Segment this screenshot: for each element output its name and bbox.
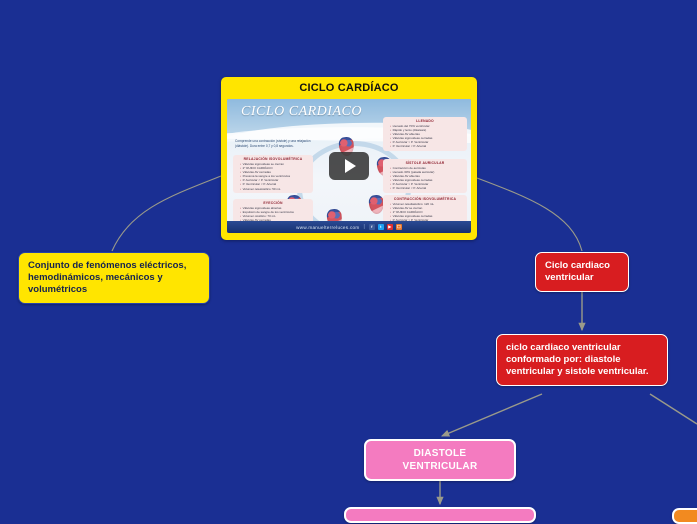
play-icon[interactable]: [329, 152, 369, 180]
node-definition[interactable]: Conjunto de fenómenos eléctricos, hemodi…: [18, 252, 210, 304]
poster-heading: CICLO CARDIACO: [241, 104, 362, 120]
facebook-icon[interactable]: f: [369, 224, 375, 230]
video-card-title: CICLO CARDÍACO: [221, 77, 477, 99]
poster-panel-title: RELAJACIÓN ISOVOLUMÉTRICA: [236, 157, 310, 161]
video-player[interactable]: CICLO CARDIACO Comprende una contracción…: [227, 99, 471, 233]
twitter-icon[interactable]: t: [378, 224, 384, 230]
poster-panel-lines: Llenado del 70% ventricular Rápido y len…: [386, 124, 464, 149]
poster-panel: SÍSTOLE AURICULAR Contracción de aurícul…: [383, 159, 467, 193]
poster-panel-line: P. Ventricular < P. Arterial: [390, 186, 464, 190]
poster-panel-title: EYECCIÓN: [236, 201, 310, 205]
instagram-icon[interactable]: ☐: [396, 224, 402, 230]
poster-panel-lines: Válvulas sigmoideas se cierran 2° RUIDO …: [236, 162, 310, 191]
poster-panel-title: SÍSTOLE AURICULAR: [386, 161, 464, 165]
poster-panel-title: CONTRACCIÓN ISOVOLUMÉTRICA: [386, 197, 464, 201]
poster-separator: |: [364, 224, 365, 230]
poster-url: www.manuelterreluces.com: [296, 225, 359, 230]
poster-panel: LLENADO Llenado del 70% ventricular Rápi…: [383, 117, 467, 151]
connector-conformado-to-offscreen: [650, 394, 697, 424]
poster-panel-line: P. Ventricular < P. Arterial: [390, 144, 464, 148]
poster-panel-title: LLENADO: [386, 119, 464, 123]
connector-conformado-to-diastole: [442, 394, 542, 436]
node-diastole-ventricular[interactable]: DIASTOLE VENTRICULAR: [364, 439, 516, 481]
node-orange-partial[interactable]: [672, 508, 697, 524]
poster-panel-line: Volumen telesistólico: 50 mL: [240, 187, 310, 191]
node-sistole-ventricular-partial[interactable]: [344, 507, 536, 523]
poster-panel: RELAJACIÓN ISOVOLUMÉTRICA Válvulas sigmo…: [233, 155, 313, 193]
mindmap-canvas: CICLO CARDÍACO CICLO CARDIACO Comprende …: [0, 0, 697, 520]
video-card[interactable]: CICLO CARDÍACO CICLO CARDIACO Comprende …: [221, 77, 477, 240]
poster-footer-bar: www.manuelterreluces.com | f t ▶ ☐: [227, 221, 471, 233]
poster-intro-text: Comprende una contracción (sístole) y un…: [235, 139, 313, 148]
connector-video-to-ciclo: [477, 178, 582, 251]
node-conformado-por[interactable]: ciclo cardiaco ventricular conformado po…: [496, 334, 668, 386]
poster-panel-lines: Contracción de aurículas Llenado 30% (pa…: [386, 166, 464, 191]
node-ciclo-cardiaco-ventricular[interactable]: Ciclo cardiaco ventricular: [535, 252, 629, 292]
youtube-icon[interactable]: ▶: [387, 224, 393, 230]
connector-video-to-definition: [112, 176, 221, 251]
play-triangle: [345, 159, 356, 173]
